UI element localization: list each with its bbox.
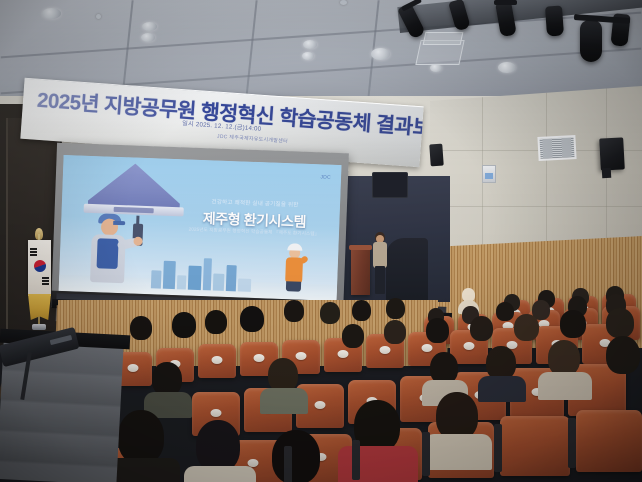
wall-speaker-icon — [599, 137, 625, 170]
flag-cloth — [28, 240, 51, 296]
projection-screen: 건강하고 쾌적한 실내 공기질을 위한 제주형 환기시스템 2025년도 지방공… — [51, 143, 349, 318]
spotlight-yoke — [494, 0, 517, 5]
taeguk-circle — [34, 260, 46, 272]
auditorium-seat[interactable] — [198, 344, 236, 378]
ceiling-downlight — [498, 62, 516, 73]
auditorium-seat[interactable] — [500, 416, 570, 476]
sprinkler-head — [96, 14, 101, 19]
slide-worker-illustration — [83, 208, 140, 284]
stage-monitor — [372, 172, 408, 198]
auditorium-seat[interactable] — [576, 410, 642, 472]
wall-speaker-icon — [429, 144, 444, 167]
flag-base — [32, 324, 46, 330]
slide-city-illustration — [147, 248, 258, 292]
podium-top — [349, 245, 372, 250]
ceiling-downlight — [303, 40, 317, 49]
wall-air-vent-icon — [537, 135, 576, 161]
stage-spotlight — [545, 5, 564, 36]
slide-worker2-illustration — [281, 243, 309, 292]
stage-spotlight — [580, 20, 602, 62]
ceiling-downlight — [42, 8, 61, 19]
ceiling-downlight — [302, 52, 314, 60]
ceiling-downlight — [141, 33, 155, 42]
presenter — [372, 232, 388, 294]
sprinkler-head — [340, 0, 347, 5]
stage-curtain-shadow — [386, 238, 428, 300]
speaker-mount — [602, 168, 612, 178]
slide-logo: JDC — [320, 174, 331, 180]
korean-flag — [22, 228, 56, 338]
ceiling-downlight — [430, 64, 442, 72]
ceiling-air-vent — [423, 32, 464, 45]
screen-surface: 건강하고 쾌적한 실내 공기질을 위한 제주형 환기시스템 2025년도 지방공… — [59, 155, 342, 301]
ceiling-downlight — [371, 48, 390, 60]
auditorium-photo: 2025년 지방공무원 행정혁신 학습공동체 결과보고회 일시 2025. 12… — [0, 0, 642, 482]
wall-control-panel[interactable] — [482, 165, 496, 183]
flag-fringe — [28, 294, 51, 320]
podium — [351, 247, 370, 295]
ceiling-downlight — [142, 22, 157, 31]
